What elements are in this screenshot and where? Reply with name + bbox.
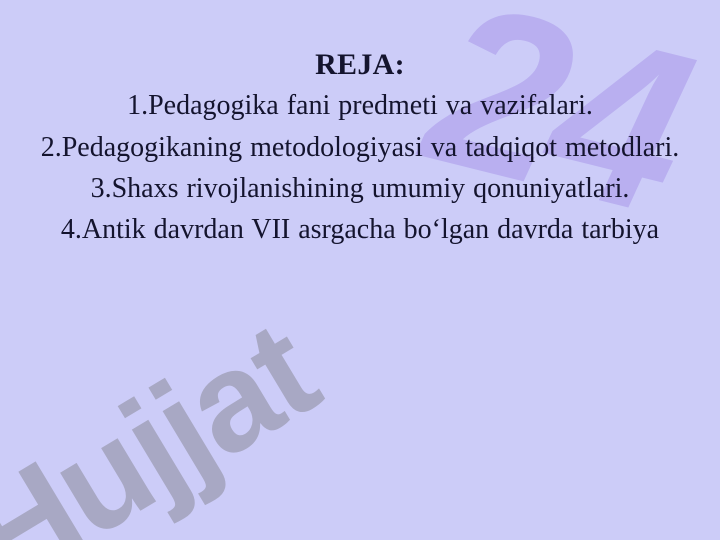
plan-item-1: 1.Pedagogika fani predmeti va vazifalari… <box>30 85 690 126</box>
slide-title: REJA: <box>315 47 405 82</box>
slide-content: REJA: 1.Pedagogika fani predmeti va vazi… <box>0 0 720 540</box>
plan-item-2: 2.Pedagogikaning metodologiyasi va tadqi… <box>30 127 690 168</box>
presentation-slide: 24 Hujjat REJA: 1.Pedagogika fani predme… <box>0 0 720 540</box>
plan-item-4: 4.Antik davrdan VII asrgacha bo‘lgan dav… <box>30 209 690 250</box>
plan-item-3: 3.Shaxs rivojlanishining umumiy qonuniya… <box>30 168 690 209</box>
plan-list: 1.Pedagogika fani predmeti va vazifalari… <box>30 85 690 250</box>
